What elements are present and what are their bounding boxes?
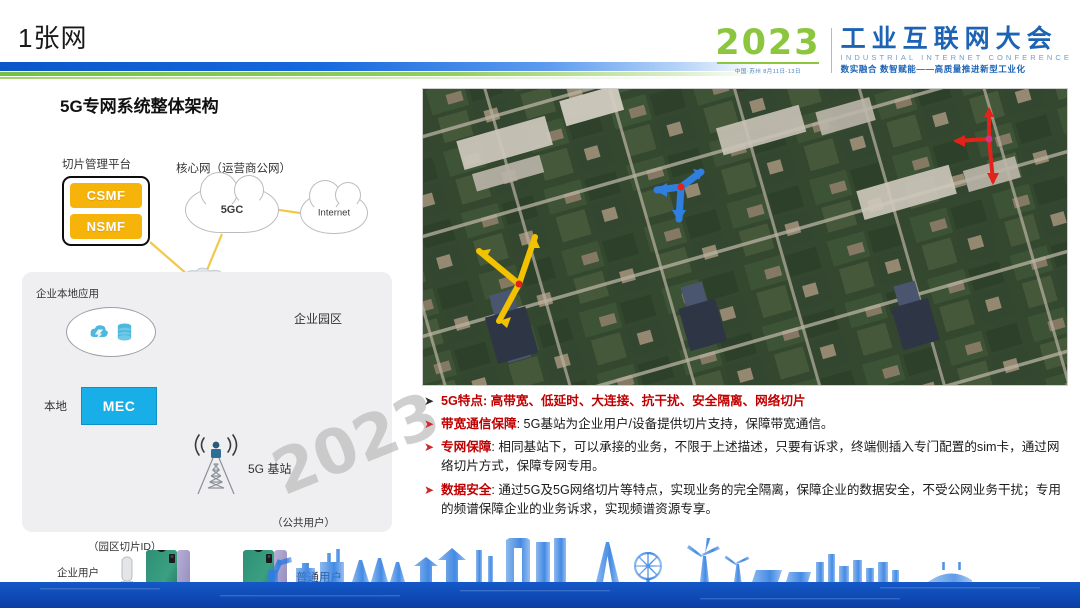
logo-chinese-title: 工业互联网大会 bbox=[841, 26, 1072, 52]
bullet-key: 数据安全 bbox=[441, 483, 491, 497]
label-base-station: 5G 基站 bbox=[248, 460, 291, 477]
database-icon bbox=[116, 322, 133, 342]
bullet-arrow-icon: ➤ bbox=[424, 481, 441, 500]
label-slice-platform: 切片管理平台 bbox=[62, 156, 131, 172]
bullet-item: ➤ 数据安全: 通过5G及5G网络切片等特点，实现业务的完全隔离，保障企业的数据… bbox=[424, 481, 1072, 519]
header-green-bar bbox=[0, 72, 760, 76]
logo-text-block: 工业互联网大会 INDUSTRIAL INTERNET CONFERENCE 数… bbox=[841, 26, 1072, 75]
label-public-user: （公共用户） bbox=[272, 515, 335, 530]
bullet-body: : 5G基站为企业用户/设备提供切片支持，保障带宽通信。 bbox=[517, 417, 834, 431]
header-blue-bar bbox=[0, 62, 760, 71]
csmf-node: CSMF bbox=[70, 183, 142, 208]
bullet-arrow-icon: ➤ bbox=[424, 438, 441, 457]
core-network-cloud: 5GC bbox=[185, 187, 279, 233]
bullet-key: 5G特点: bbox=[441, 394, 487, 408]
logo-date: 中国·苏州 8月11日-13日 bbox=[715, 67, 820, 75]
bullet-arrow-icon: ➤ bbox=[424, 392, 441, 411]
internet-cloud-label: Internet bbox=[301, 208, 367, 219]
bullet-item: ➤ 5G特点: 高带宽、低延时、大连接、抗干扰、安全隔离、网络切片 bbox=[424, 392, 1072, 411]
bullet-list: ➤ 5G特点: 高带宽、低延时、大连接、抗干扰、安全隔离、网络切片 ➤ 带宽通信… bbox=[424, 392, 1072, 523]
architecture-diagram: 5G专网系统整体架构 切片 bbox=[0, 82, 418, 542]
bullet-item: ➤ 带宽通信保障: 5G基站为企业用户/设备提供切片支持，保障带宽通信。 bbox=[424, 415, 1072, 434]
aerial-map-graphic bbox=[423, 89, 1068, 386]
base-station-tower bbox=[188, 434, 244, 501]
logo-year-block: 2023 中国·苏州 8月11日-13日 bbox=[715, 26, 830, 75]
bullet-body: : 相同基站下，可以承接的业务，不限于上述描述，只要有诉求，终端侧插入专门配置的… bbox=[441, 440, 1060, 473]
bullet-text: 专网保障: 相同基站下，可以承接的业务，不限于上述描述，只要有诉求，终端侧插入专… bbox=[441, 438, 1072, 476]
label-core-network: 核心网（运营商公网） bbox=[176, 160, 291, 176]
skyline-silhouette bbox=[267, 538, 972, 582]
bullet-key: 专网保障 bbox=[441, 440, 491, 454]
bullet-arrow-icon: ➤ bbox=[424, 415, 441, 434]
label-enterprise-local-app: 企业本地应用 bbox=[36, 286, 99, 301]
header-thin-line bbox=[0, 77, 700, 79]
aerial-site-image bbox=[422, 88, 1068, 386]
footer-skyline bbox=[0, 538, 1080, 608]
mec-node: MEC bbox=[81, 387, 157, 425]
skyline-graphic bbox=[0, 538, 1080, 608]
page-title: 1张网 bbox=[18, 18, 87, 55]
logo-english-title: INDUSTRIAL INTERNET CONFERENCE bbox=[841, 53, 1072, 62]
bullet-text: 数据安全: 通过5G及5G网络切片等特点，实现业务的完全隔离，保障企业的数据安全… bbox=[441, 481, 1072, 519]
logo-divider bbox=[831, 28, 832, 73]
local-application-oval bbox=[66, 307, 156, 357]
conference-logo: 2023 中国·苏州 8月11日-13日 工业互联网大会 INDUSTRIAL … bbox=[715, 26, 1072, 75]
slide-root: 1张网 2023 中国·苏州 8月11日-13日 工业互联网大会 INDUSTR… bbox=[0, 0, 1080, 608]
bullet-key: 带宽通信保障 bbox=[441, 417, 517, 431]
slice-management-platform-box: CSMF NSMF bbox=[62, 176, 150, 246]
core-cloud-label: 5GC bbox=[186, 204, 278, 216]
internet-cloud: Internet bbox=[300, 192, 368, 234]
bullet-text: 带宽通信保障: 5G基站为企业用户/设备提供切片支持，保障带宽通信。 bbox=[441, 415, 834, 434]
bullet-body: : 通过5G及5G网络切片等特点，实现业务的完全隔离，保障企业的数据安全，不受公… bbox=[441, 483, 1061, 516]
label-local: 本地 bbox=[44, 398, 67, 414]
label-enterprise-campus: 企业园区 bbox=[294, 310, 342, 327]
bullet-text: 5G特点: 高带宽、低延时、大连接、抗干扰、安全隔离、网络切片 bbox=[441, 392, 806, 411]
logo-year: 2023 bbox=[715, 26, 820, 61]
bullet-body: 高带宽、低延时、大连接、抗干扰、安全隔离、网络切片 bbox=[487, 394, 805, 408]
bullet-item: ➤ 专网保障: 相同基站下，可以承接的业务，不限于上述描述，只要有诉求，终端侧插… bbox=[424, 438, 1072, 476]
cloud-app-icon bbox=[89, 322, 109, 342]
logo-slogan: 数实融合 数智赋能——高质量推进新型工业化 bbox=[841, 63, 1072, 75]
nsmf-node: NSMF bbox=[70, 214, 142, 239]
